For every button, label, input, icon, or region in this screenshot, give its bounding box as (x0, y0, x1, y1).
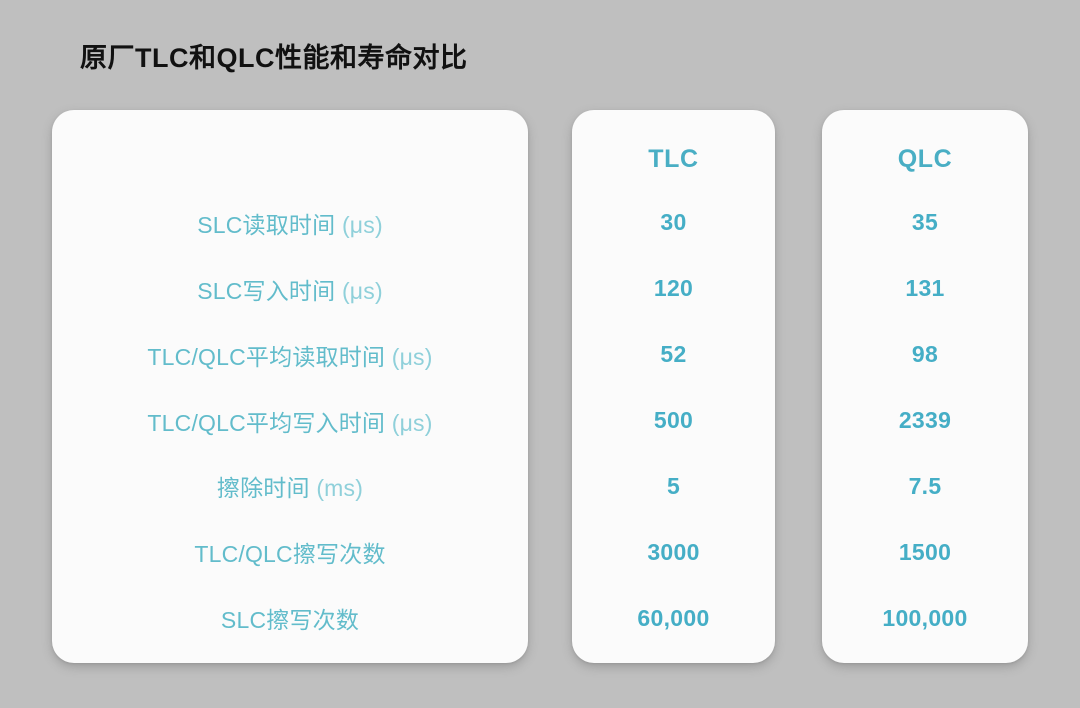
qlc-value: 100,000 (882, 605, 967, 632)
row-label: TLC/QLC平均写入时间 (μs) (147, 404, 432, 438)
qlc-value: 35 (912, 209, 938, 236)
row-label: TLC/QLC平均读取时间 (μs) (147, 338, 432, 372)
qlc-column-rows: 35 131 98 2339 7.5 1500 100,000 (822, 190, 1028, 651)
tlc-value: 30 (660, 209, 686, 236)
label-column-header (52, 138, 528, 180)
tlc-column-rows: 30 120 52 500 5 3000 60,000 (572, 190, 775, 651)
qlc-value: 7.5 (909, 473, 942, 500)
tlc-value: 52 (660, 341, 686, 368)
table-row: 2339 (822, 388, 1028, 454)
table-row: 1500 (822, 519, 1028, 585)
qlc-column-header: QLC (822, 138, 1028, 180)
table-row: TLC/QLC平均写入时间 (μs) (52, 388, 528, 454)
table-row: 3000 (572, 519, 775, 585)
table-row: 35 (822, 190, 1028, 256)
page-title: 原厂TLC和QLC性能和寿命对比 (80, 36, 467, 75)
row-label: 擦除时间 (ms) (217, 469, 363, 503)
row-label: TLC/QLC擦写次数 (194, 535, 385, 569)
tlc-column-card: TLC 30 120 52 500 5 3000 60,000 (572, 110, 775, 663)
table-row: TLC/QLC擦写次数 (52, 519, 528, 585)
table-row: 98 (822, 322, 1028, 388)
label-column-card: SLC读取时间 (μs) SLC写入时间 (μs) TLC/QLC平均读取时间 … (52, 110, 528, 663)
table-row: 131 (822, 256, 1028, 322)
tlc-column-header: TLC (572, 138, 775, 180)
tlc-value: 5 (667, 473, 680, 500)
table-row: 52 (572, 322, 775, 388)
table-row: 擦除时间 (ms) (52, 453, 528, 519)
table-row: 120 (572, 256, 775, 322)
tlc-value: 500 (654, 407, 693, 434)
table-row: 100,000 (822, 585, 1028, 651)
qlc-value: 1500 (899, 539, 951, 566)
qlc-column-card: QLC 35 131 98 2339 7.5 1500 100,000 (822, 110, 1028, 663)
row-label: SLC擦写次数 (221, 601, 359, 635)
table-row: 5 (572, 453, 775, 519)
table-row: TLC/QLC平均读取时间 (μs) (52, 322, 528, 388)
qlc-value: 2339 (899, 407, 951, 434)
row-label: SLC读取时间 (μs) (197, 206, 383, 240)
row-label: SLC写入时间 (μs) (197, 272, 383, 306)
table-row: SLC擦写次数 (52, 585, 528, 651)
qlc-value: 131 (905, 275, 944, 302)
tlc-value: 120 (654, 275, 693, 302)
tlc-value: 60,000 (637, 605, 709, 632)
comparison-table: SLC读取时间 (μs) SLC写入时间 (μs) TLC/QLC平均读取时间 … (52, 110, 1028, 663)
qlc-value: 98 (912, 341, 938, 368)
table-row: SLC写入时间 (μs) (52, 256, 528, 322)
tlc-value: 3000 (647, 539, 699, 566)
table-row: 7.5 (822, 453, 1028, 519)
table-row: 30 (572, 190, 775, 256)
table-row: 60,000 (572, 585, 775, 651)
table-row: 500 (572, 388, 775, 454)
label-column-rows: SLC读取时间 (μs) SLC写入时间 (μs) TLC/QLC平均读取时间 … (52, 190, 528, 651)
table-row: SLC读取时间 (μs) (52, 190, 528, 256)
